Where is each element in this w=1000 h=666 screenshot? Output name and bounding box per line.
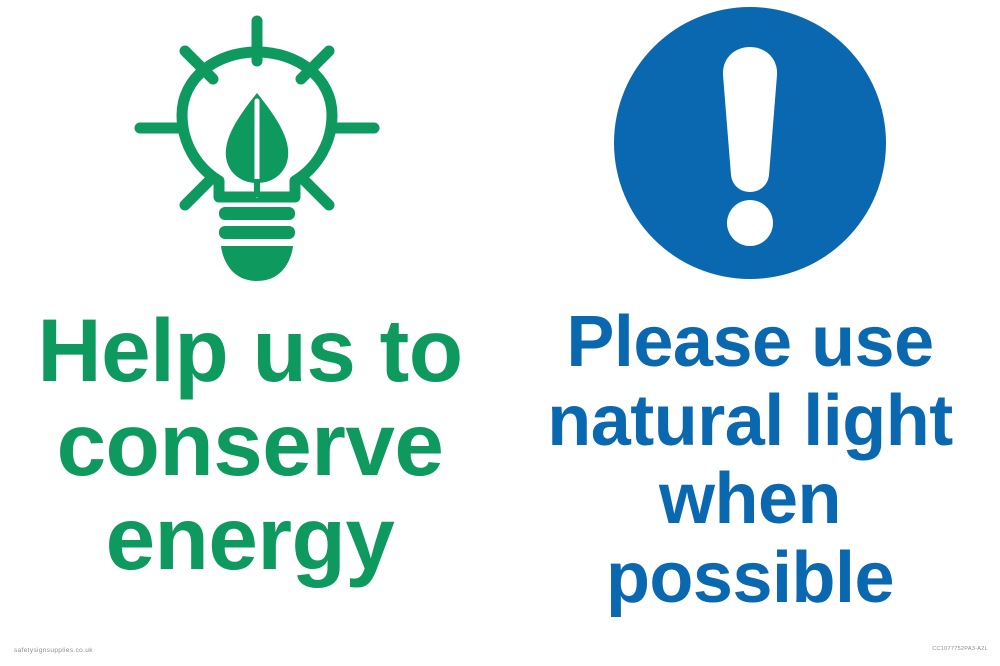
sign-panels: Help us to conserve energy Please use na…	[0, 0, 1000, 620]
pictogram-conserve-energy	[0, 0, 500, 300]
mandatory-exclamation-icon	[614, 7, 886, 279]
message-line: Help us to	[0, 306, 500, 394]
product-code: CC1077752PA3-A2L	[932, 646, 988, 652]
eco-light-bulb-icon	[132, 15, 382, 285]
bulb-base-cap	[221, 246, 293, 281]
supplier-website: safetysignsupplies.co.uk	[14, 647, 93, 654]
pictogram-natural-light	[500, 0, 1000, 286]
message-line: Please use	[500, 306, 1000, 379]
bulb-leaf-stem	[254, 179, 260, 197]
exclamation-stroke	[723, 47, 777, 192]
panel-natural-light: Please use natural light when possible	[500, 0, 1000, 620]
message-line: natural light	[500, 385, 1000, 458]
bulb-base-ridge-2	[219, 226, 295, 239]
message-natural-light: Please use natural light when possible	[500, 286, 1000, 620]
safety-sign: Help us to conserve energy Please use na…	[0, 0, 1000, 666]
bulb-base-ridge-1	[219, 207, 295, 220]
bulb-ray-lower-left	[185, 177, 213, 205]
message-conserve-energy: Help us to conserve energy	[0, 300, 500, 588]
message-line: when	[500, 463, 1000, 536]
message-line: possible	[500, 542, 1000, 615]
panel-conserve-energy: Help us to conserve energy	[0, 0, 500, 620]
message-line: energy	[0, 494, 500, 582]
footer: safetysignsupplies.co.uk CC1077752PA3-A2…	[0, 620, 1000, 666]
message-line: conserve	[0, 400, 500, 488]
bulb-ray-lower-right	[301, 177, 329, 205]
exclamation-dot	[727, 200, 773, 246]
